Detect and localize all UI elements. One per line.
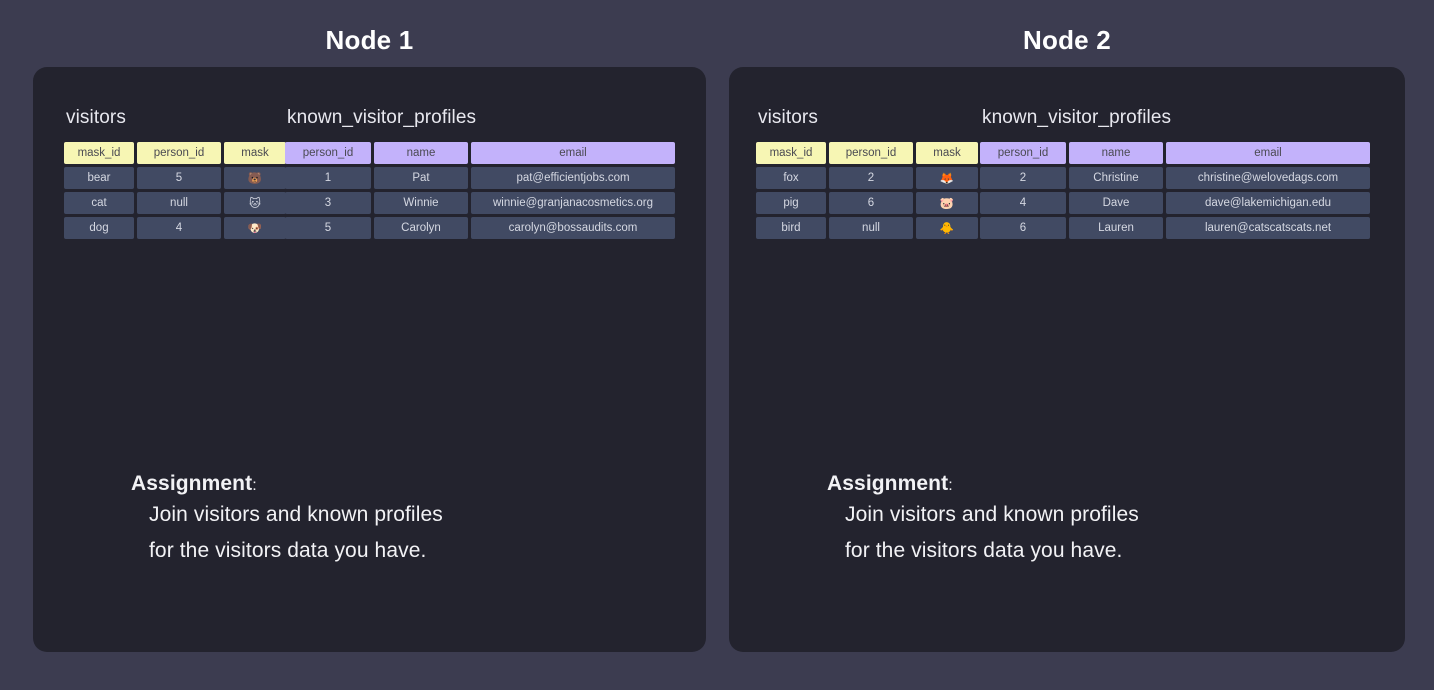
- column-header-person-id: person_id: [829, 142, 913, 164]
- node-2-visitors-table-block: visitors mask_id person_id mask fox 2: [756, 107, 981, 242]
- cell-name: Dave: [1069, 192, 1163, 214]
- column-header-person-id: person_id: [137, 142, 221, 164]
- column-header-mask: mask: [916, 142, 978, 164]
- cell-name: Pat: [374, 167, 468, 189]
- table-row: 3 Winnie winnie@granjanacosmetics.org: [285, 192, 675, 214]
- column-header-email: email: [471, 142, 675, 164]
- cell-person-id: 1: [285, 167, 371, 189]
- table-header-row: mask_id person_id mask: [756, 142, 978, 164]
- table-row: dog 4 🐶: [64, 217, 286, 239]
- cell-email: carolyn@bossaudits.com: [471, 217, 675, 239]
- column-header-person-id: person_id: [980, 142, 1066, 164]
- bear-face-icon: 🐻: [224, 167, 286, 189]
- cell-person-id: 5: [137, 167, 221, 189]
- table-row: 4 Dave dave@lakemichigan.edu: [980, 192, 1370, 214]
- assignment-colon: :: [948, 477, 952, 494]
- cell-mask-id: pig: [756, 192, 826, 214]
- assignment-label: Assignment: [131, 472, 252, 495]
- cell-mask-id: dog: [64, 217, 134, 239]
- node-1-column: Node 1 visitors mask_id person_id mask: [33, 0, 706, 58]
- table-row: 6 Lauren lauren@catscatscats.net: [980, 217, 1370, 239]
- table-row: 2 Christine christine@welovedags.com: [980, 167, 1370, 189]
- node-2-column: Node 2 visitors mask_id person_id mask: [729, 0, 1405, 58]
- node-1-visitors-table-block: visitors mask_id person_id mask bear 5: [64, 107, 289, 242]
- node-2-profiles-caption: known_visitor_profiles: [982, 107, 1373, 129]
- cell-person-id: null: [137, 192, 221, 214]
- node-2-assignment-heading: Assignment:: [827, 472, 1347, 496]
- table-header-row: mask_id person_id mask: [64, 142, 286, 164]
- cell-person-id: 6: [980, 217, 1066, 239]
- table-header-row: person_id name email: [285, 142, 675, 164]
- column-header-name: name: [1069, 142, 1163, 164]
- table-row: bird null 🐥: [756, 217, 978, 239]
- node-2-profiles-table-block: known_visitor_profiles person_id name em…: [980, 107, 1373, 242]
- cell-person-id: 3: [285, 192, 371, 214]
- cell-person-id: 2: [829, 167, 913, 189]
- node-1-tables-row: visitors mask_id person_id mask bear 5: [33, 67, 706, 297]
- column-header-person-id: person_id: [285, 142, 371, 164]
- chick-face-icon: 🐥: [916, 217, 978, 239]
- node-1-assignment: Assignment: Join visitors and known prof…: [131, 472, 651, 568]
- node-1-assignment-line-2: for the visitors data you have.: [149, 534, 651, 568]
- node-1-visitors-caption: visitors: [66, 107, 289, 129]
- cell-name: Christine: [1069, 167, 1163, 189]
- node-2-assignment: Assignment: Join visitors and known prof…: [827, 472, 1347, 568]
- cell-email: lauren@catscatscats.net: [1166, 217, 1370, 239]
- column-header-mask-id: mask_id: [64, 142, 134, 164]
- assignment-colon: :: [252, 477, 256, 494]
- node-1-profiles-table-block: known_visitor_profiles person_id name em…: [285, 107, 678, 242]
- node-1-profiles-table: person_id name email 1 Pat pat@efficient…: [282, 139, 678, 242]
- assignment-label: Assignment: [827, 472, 948, 495]
- table-row: cat null 🐱: [64, 192, 286, 214]
- node-1-profiles-caption: known_visitor_profiles: [287, 107, 678, 129]
- node-2-title: Node 2: [729, 22, 1405, 58]
- node-1-panel: visitors mask_id person_id mask bear 5: [33, 67, 706, 652]
- cell-mask-id: bird: [756, 217, 826, 239]
- cell-name: Lauren: [1069, 217, 1163, 239]
- node-1-visitors-table: mask_id person_id mask bear 5 🐻 cat: [61, 139, 289, 242]
- cell-mask-id: fox: [756, 167, 826, 189]
- cell-mask-id: bear: [64, 167, 134, 189]
- node-2-assignment-line-2: for the visitors data you have.: [845, 534, 1347, 568]
- cell-name: Carolyn: [374, 217, 468, 239]
- cell-mask-id: cat: [64, 192, 134, 214]
- node-2-panel: visitors mask_id person_id mask fox 2: [729, 67, 1405, 652]
- node-2-profiles-table: person_id name email 2 Christine christi…: [977, 139, 1373, 242]
- node-2-visitors-caption: visitors: [758, 107, 981, 129]
- cell-email: winnie@granjanacosmetics.org: [471, 192, 675, 214]
- table-row: 1 Pat pat@efficientjobs.com: [285, 167, 675, 189]
- dog-face-icon: 🐶: [224, 217, 286, 239]
- cell-person-id: 5: [285, 217, 371, 239]
- node-2-tables-row: visitors mask_id person_id mask fox 2: [729, 67, 1405, 297]
- cell-person-id: null: [829, 217, 913, 239]
- column-header-email: email: [1166, 142, 1370, 164]
- cell-name: Winnie: [374, 192, 468, 214]
- table-row: bear 5 🐻: [64, 167, 286, 189]
- cell-person-id: 6: [829, 192, 913, 214]
- cat-face-icon: 🐱: [224, 192, 286, 214]
- pig-face-icon: 🐷: [916, 192, 978, 214]
- table-row: fox 2 🦊: [756, 167, 978, 189]
- cell-email: pat@efficientjobs.com: [471, 167, 675, 189]
- column-header-mask: mask: [224, 142, 286, 164]
- cell-person-id: 4: [137, 217, 221, 239]
- node-1-assignment-line-1: Join visitors and known profiles: [149, 498, 651, 532]
- column-header-name: name: [374, 142, 468, 164]
- fox-face-icon: 🦊: [916, 167, 978, 189]
- column-header-mask-id: mask_id: [756, 142, 826, 164]
- node-1-title: Node 1: [33, 22, 706, 58]
- table-header-row: person_id name email: [980, 142, 1370, 164]
- cell-email: dave@lakemichigan.edu: [1166, 192, 1370, 214]
- node-2-assignment-line-1: Join visitors and known profiles: [845, 498, 1347, 532]
- node-1-assignment-heading: Assignment:: [131, 472, 651, 496]
- cell-person-id: 2: [980, 167, 1066, 189]
- table-row: 5 Carolyn carolyn@bossaudits.com: [285, 217, 675, 239]
- cell-person-id: 4: [980, 192, 1066, 214]
- table-row: pig 6 🐷: [756, 192, 978, 214]
- node-2-visitors-table: mask_id person_id mask fox 2 🦊 pig: [753, 139, 981, 242]
- cell-email: christine@welovedags.com: [1166, 167, 1370, 189]
